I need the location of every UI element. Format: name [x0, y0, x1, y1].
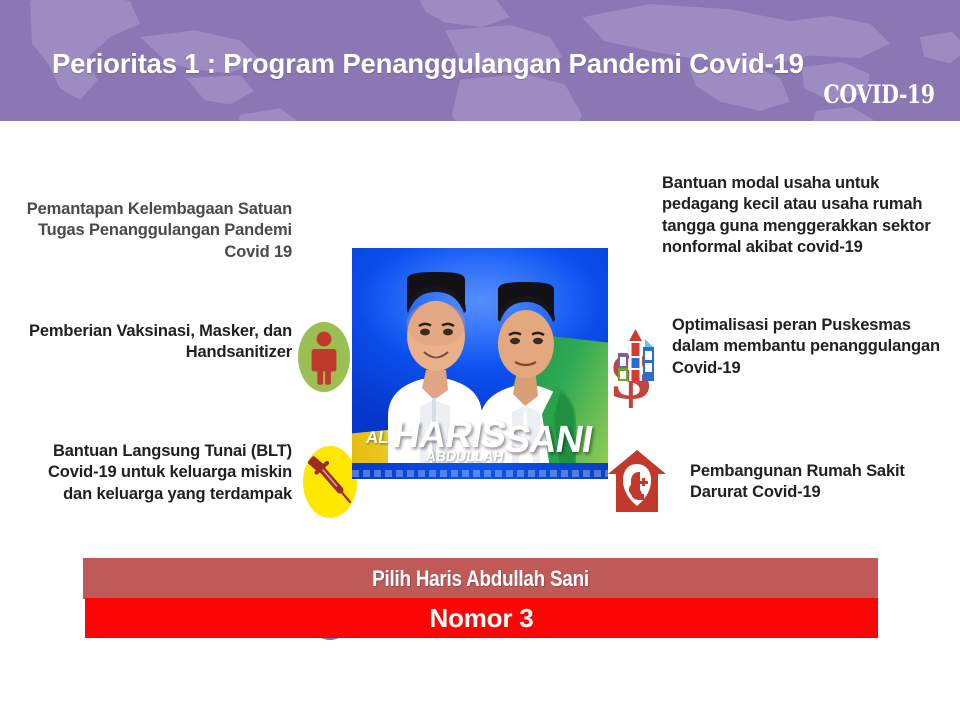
list-item: Pembangunan Rumah Sakit Darurat Covid-19	[690, 461, 940, 504]
clinic-building-icon	[609, 327, 663, 389]
left-item-3-label: Bantuan Langsung Tunai (BLT) Covid-19 un…	[20, 441, 292, 505]
footer-number-bar: Nomor 3	[85, 598, 878, 638]
list-item: Pemantapan Kelembagaan Satuan Tugas Pena…	[20, 199, 292, 263]
list-item: Bantuan modal usaha untuk pedagang kecil…	[662, 173, 944, 259]
poster-tagline-text	[352, 470, 608, 477]
right-item-1-label: Bantuan modal usaha untuk pedagang kecil…	[662, 173, 944, 259]
footer-slogan-text: Pilih Haris Abdullah Sani	[139, 558, 823, 599]
list-item: Pemberian Vaksinasi, Masker, dan Handsan…	[20, 321, 292, 364]
left-item-2-label: Pemberian Vaksinasi, Masker, dan Handsan…	[20, 321, 292, 364]
footer-slogan-bar: Pilih Haris Abdullah Sani	[83, 558, 878, 599]
footer-number-text: Nomor 3	[85, 598, 878, 638]
right-item-3-label: Pembangunan Rumah Sakit Darurat Covid-19	[690, 461, 940, 504]
poster-name-middle: ABDULLAH	[425, 448, 505, 464]
right-item-2-label: Optimalisasi peran Puskesmas dalam memba…	[672, 315, 944, 379]
left-item-1-label: Pemantapan Kelembagaan Satuan Tugas Pena…	[20, 199, 292, 263]
page-title: Perioritas 1 : Program Penanggulangan Pa…	[52, 48, 932, 80]
syringe-icon	[303, 446, 357, 518]
hospital-house-icon	[606, 448, 668, 514]
poster-name-prefix: AL	[364, 428, 390, 448]
campaign-poster-image: AL HARIS ABDULLAH SANI	[352, 248, 608, 479]
slide-header: Perioritas 1 : Program Penanggulangan Pa…	[0, 0, 960, 121]
slide-root: Perioritas 1 : Program Penanggulangan Pa…	[0, 0, 960, 720]
list-item: Bantuan Langsung Tunai (BLT) Covid-19 un…	[20, 441, 292, 505]
person-icon	[298, 322, 350, 392]
list-item: Optimalisasi peran Puskesmas dalam memba…	[672, 315, 944, 379]
poster-name-last: SANI	[502, 419, 596, 462]
covid-19-badge: COVID-19	[824, 82, 935, 107]
